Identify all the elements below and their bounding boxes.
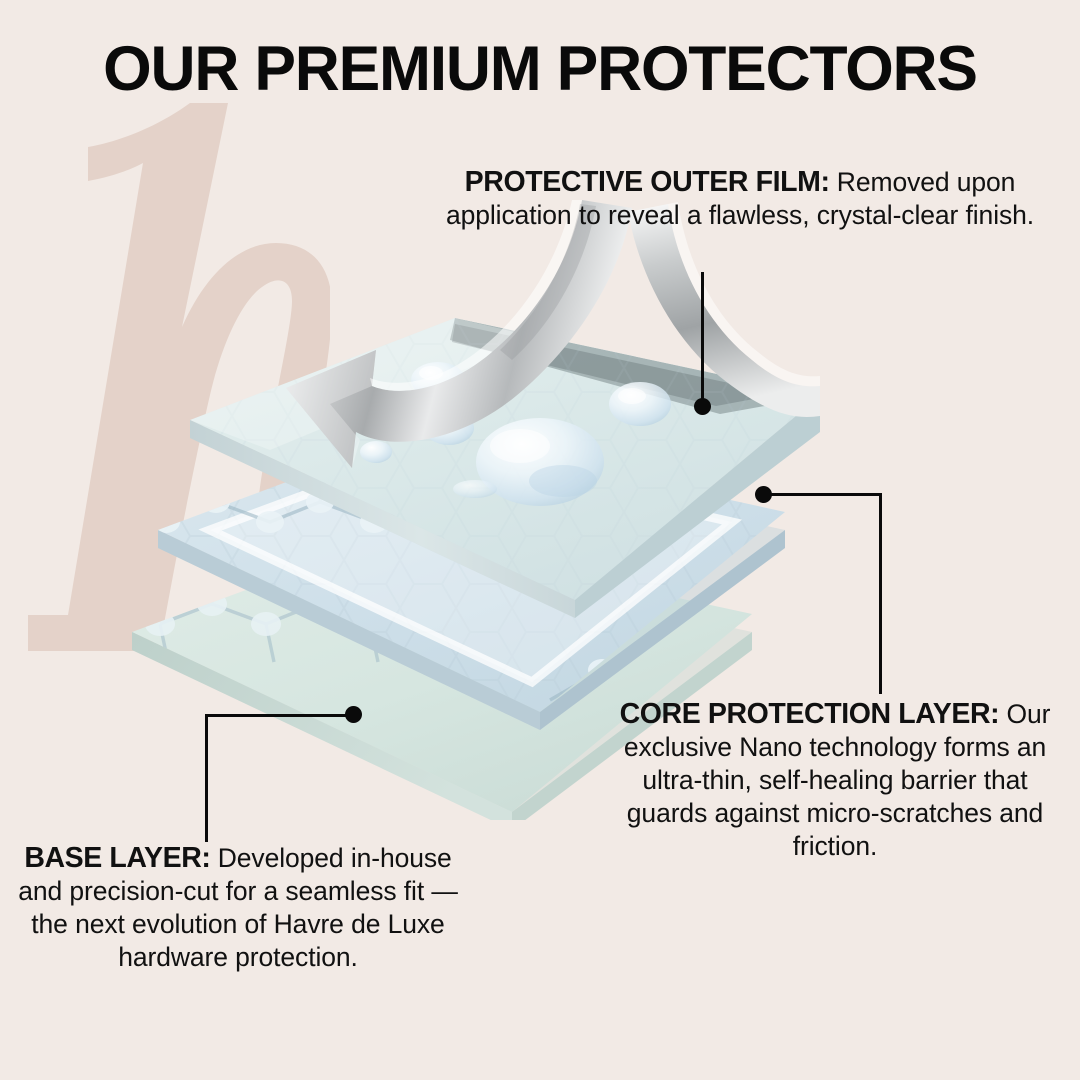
callout-lead: CORE PROTECTION LAYER: — [620, 698, 1000, 730]
callout-lead: BASE LAYER: — [24, 842, 210, 874]
callout-core-protection-layer: CORE PROTECTION LAYER: Our exclusive Nan… — [600, 698, 1070, 863]
leader-dot-core-layer — [755, 486, 772, 503]
callout-text: CORE PROTECTION LAYER: Our exclusive Nan… — [600, 698, 1070, 863]
poster-canvas: OUR PREMIUM PROTECTORS — [0, 0, 1080, 1080]
callout-text: BASE LAYER: Developed in-house and preci… — [8, 842, 468, 974]
leader-segment-vertical — [701, 272, 704, 408]
callout-lead: PROTECTIVE OUTER FILM: — [465, 166, 830, 198]
leader-dot-base-layer — [345, 706, 362, 723]
callout-protective-outer-film: PROTECTIVE OUTER FILM: Removed upon appl… — [440, 166, 1040, 232]
leader-segment-horizontal — [205, 714, 355, 717]
page-title: OUR PREMIUM PROTECTORS — [5, 34, 1074, 104]
leader-segment-horizontal — [763, 493, 882, 496]
callout-text: PROTECTIVE OUTER FILM: Removed upon appl… — [440, 166, 1040, 232]
leader-segment-vertical — [879, 493, 882, 694]
callout-base-layer: BASE LAYER: Developed in-house and preci… — [8, 842, 468, 974]
leader-dot-outer-film — [694, 398, 711, 415]
leader-segment-vertical — [205, 714, 208, 842]
